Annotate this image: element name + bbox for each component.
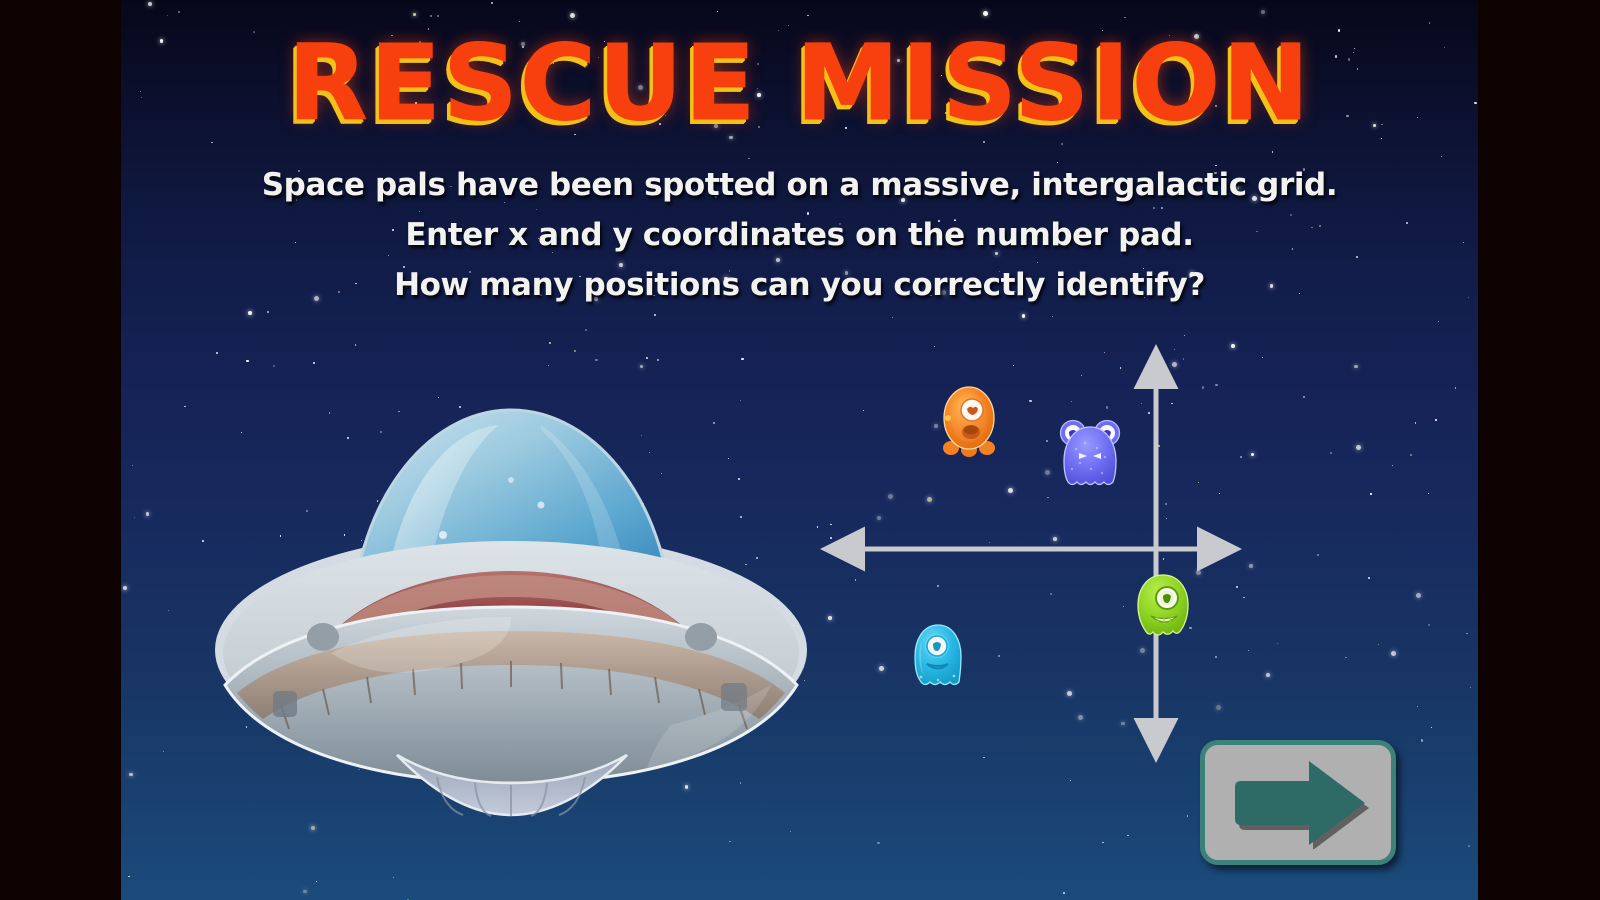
star	[574, 350, 576, 352]
star	[1184, 335, 1185, 336]
star	[549, 342, 550, 343]
star	[311, 826, 315, 830]
star	[1417, 706, 1418, 707]
star	[1063, 892, 1065, 894]
star	[729, 841, 730, 842]
star	[892, 317, 893, 318]
star	[585, 329, 587, 331]
star	[168, 610, 169, 611]
star	[1431, 727, 1432, 728]
star	[437, 15, 439, 17]
star	[248, 311, 252, 315]
alien-cyan[interactable]	[910, 622, 966, 688]
star	[1022, 314, 1026, 318]
game-stage: RESCUE MISSION Space pals have been spot…	[0, 0, 1600, 900]
star	[316, 881, 317, 882]
star	[548, 365, 549, 366]
star	[393, 877, 394, 878]
star	[1416, 593, 1421, 598]
instructions-block: Space pals have been spotted on a massiv…	[121, 160, 1478, 310]
star	[1124, 17, 1125, 18]
letterbox-left	[0, 0, 121, 900]
star	[717, 11, 718, 12]
star	[1392, 465, 1393, 466]
alien-purple[interactable]	[1056, 417, 1124, 489]
alien-body	[1064, 427, 1116, 485]
star	[129, 773, 133, 777]
instruction-line-3: How many positions can you correctly ide…	[121, 260, 1478, 310]
star	[1272, 151, 1273, 152]
star	[1435, 419, 1436, 420]
star	[1070, 780, 1071, 781]
star	[1052, 316, 1053, 317]
star	[413, 13, 417, 17]
star	[983, 11, 988, 16]
star	[1277, 643, 1278, 644]
star	[1262, 357, 1263, 358]
instruction-line-1: Space pals have been spotted on a massiv…	[121, 160, 1478, 210]
star	[1410, 454, 1412, 456]
star	[167, 15, 168, 16]
star	[654, 314, 655, 315]
star	[303, 890, 307, 894]
star	[1251, 453, 1255, 457]
star	[1248, 650, 1249, 651]
star	[128, 876, 129, 877]
star	[430, 15, 431, 16]
star	[640, 365, 644, 369]
star	[657, 359, 659, 361]
star	[491, 2, 493, 4]
star	[216, 352, 218, 354]
star	[1368, 577, 1370, 579]
star	[267, 311, 269, 313]
star	[1391, 651, 1396, 656]
star	[877, 842, 879, 844]
star	[1102, 842, 1103, 843]
star	[1303, 396, 1305, 398]
star	[1421, 739, 1423, 741]
star	[1266, 673, 1270, 677]
star	[1261, 10, 1265, 14]
instruction-line-2: Enter x and y coordinates on the number …	[121, 210, 1478, 260]
letterbox-right	[1478, 0, 1600, 900]
star	[1378, 644, 1379, 645]
star	[184, 406, 185, 407]
star	[1249, 564, 1253, 568]
star	[1356, 445, 1361, 450]
star	[570, 13, 575, 18]
star	[132, 465, 133, 466]
star	[807, 15, 808, 16]
star	[1470, 687, 1471, 688]
star	[148, 2, 152, 6]
star	[790, 831, 791, 832]
star	[163, 751, 164, 752]
star	[1127, 835, 1128, 836]
star	[1370, 493, 1371, 494]
star	[134, 517, 135, 518]
star	[646, 357, 648, 359]
star	[1428, 493, 1429, 494]
star	[1330, 452, 1332, 454]
alien-green[interactable]	[1134, 572, 1192, 640]
star	[355, 344, 356, 345]
star	[146, 512, 150, 516]
star	[178, 11, 180, 13]
star	[1428, 624, 1430, 626]
star	[1415, 422, 1416, 423]
page-title: RESCUE MISSION	[121, 22, 1478, 144]
star	[1441, 156, 1442, 157]
star	[246, 360, 248, 362]
star	[1243, 597, 1244, 598]
star	[1455, 387, 1456, 388]
star	[273, 365, 275, 367]
star	[1345, 657, 1346, 658]
coordinate-axes	[821, 340, 1241, 765]
next-arrow-button[interactable]	[1200, 740, 1396, 865]
star	[595, 359, 597, 361]
star	[202, 540, 204, 542]
arrow-right-icon	[1223, 757, 1373, 849]
star	[1187, 815, 1188, 816]
star	[313, 362, 315, 364]
star	[1468, 845, 1470, 847]
star	[1354, 365, 1358, 369]
space-background: RESCUE MISSION Space pals have been spot…	[121, 0, 1478, 900]
star	[817, 526, 818, 527]
ufo-spaceship	[211, 385, 811, 825]
star	[741, 358, 743, 360]
star	[1466, 633, 1467, 634]
star	[1438, 321, 1439, 322]
alien-orange[interactable]	[939, 385, 999, 459]
star	[1317, 554, 1319, 556]
star	[123, 586, 127, 590]
